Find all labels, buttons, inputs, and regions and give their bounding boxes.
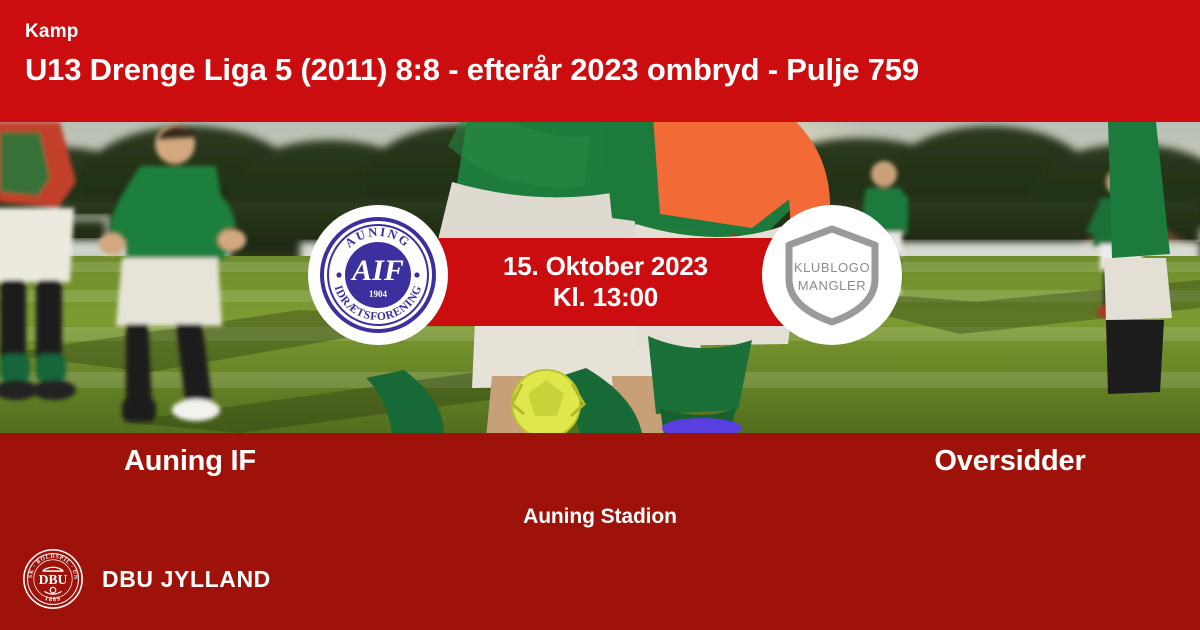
match-poster: Kamp U13 Drenge Liga 5 (2011) 8:8 - efte…	[0, 0, 1200, 630]
home-team-name: Auning IF	[0, 445, 600, 478]
venue-name: Auning Stadion	[0, 505, 1200, 529]
svg-text:1889: 1889	[44, 595, 62, 603]
footer-organization-label: DBU JYLLAND	[102, 566, 271, 593]
auning-if-crest-icon: AUNING IDRÆTSFORENING AIF 1904	[319, 216, 437, 334]
missing-club-logo-shield-icon: KLUBLOGO MANGLER	[780, 223, 884, 327]
missing-logo-line2: MANGLER	[798, 278, 867, 293]
svg-text:AIF: AIF	[350, 254, 404, 287]
svg-text:1904: 1904	[369, 289, 388, 299]
match-time: Kl. 13:00	[553, 282, 658, 313]
away-team-logo: KLUBLOGO MANGLER	[762, 205, 902, 345]
missing-logo-line1: KLUBLOGO	[794, 260, 870, 275]
match-date: 15. Oktober 2023	[503, 251, 708, 282]
dbu-emblem-icon: DANSK · BOLDSPIL · UNION 1889 DBU	[22, 548, 84, 610]
svg-text:DBU: DBU	[39, 572, 68, 587]
header-kicker: Kamp	[25, 22, 1200, 43]
team-names-row: Auning IF Oversidder	[0, 445, 1200, 478]
poster-header: Kamp U13 Drenge Liga 5 (2011) 8:8 - efte…	[0, 0, 1200, 122]
away-team-name: Oversidder	[600, 445, 1200, 478]
home-team-logo: AUNING IDRÆTSFORENING AIF 1904	[308, 205, 448, 345]
footer: DANSK · BOLDSPIL · UNION 1889 DBU DBU JY…	[22, 548, 271, 610]
page-title: U13 Drenge Liga 5 (2011) 8:8 - efterår 2…	[25, 52, 1200, 88]
